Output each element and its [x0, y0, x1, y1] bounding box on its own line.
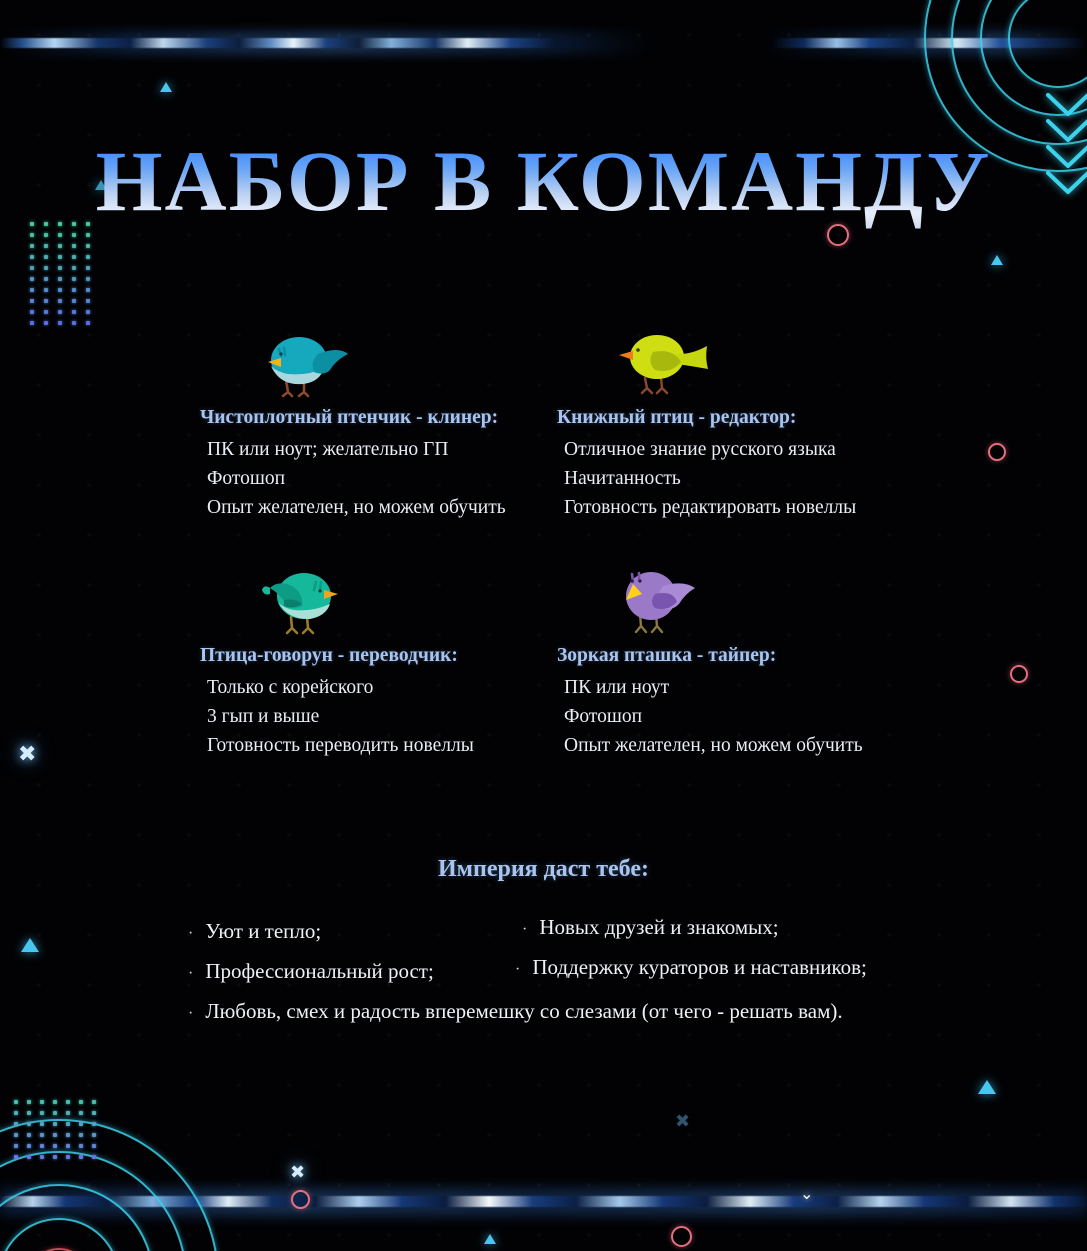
roles-section: Чистоплотный птенчик - клинер: ПК или но… [0, 318, 1087, 794]
role-requirement-item: Начитанность [564, 464, 997, 493]
triangle-marker-icon [160, 82, 172, 92]
perk-item: · Любовь, смех и радость вперемешку со с… [188, 999, 843, 1024]
bullet-icon: · [188, 966, 193, 982]
perk-item: · Новых друзей и знакомых; [522, 915, 779, 940]
perk-label: Уют и тепло; [205, 919, 321, 944]
role-card-typer[interactable]: Зоркая пташка - тайпер: ПК или ноут Фото… [557, 556, 997, 760]
role-requirement-item: Фотошоп [564, 702, 997, 731]
role-requirement-item: Отличное знание русского языка [564, 435, 997, 464]
purple-bird-icon [615, 556, 997, 636]
perk-item: · Профессиональный рост; [188, 959, 434, 984]
top-light-streak [0, 38, 1087, 48]
role-requirement-item: Готовность редактировать новеллы [564, 493, 997, 522]
bottom-light-streak [0, 1196, 1087, 1207]
role-title: Книжный птиц - редактор: [557, 407, 997, 429]
x-marker-icon: ✖ [290, 1164, 305, 1182]
bullet-icon: · [188, 1006, 193, 1022]
role-requirement-item: ПК или ноут [564, 673, 997, 702]
perk-label: Новых друзей и знакомых; [539, 915, 778, 940]
perk-label: Профессиональный рост; [205, 959, 434, 984]
perks-section: Империя даст тебе: · Уют и тепло; · Проф… [0, 856, 1087, 1029]
role-requirement-item: Опыт желателен, но можем обучить [564, 731, 997, 760]
bullet-icon: · [522, 922, 527, 938]
perks-title: Империя даст тебе: [0, 856, 1087, 883]
yellow-green-bird-icon [615, 318, 997, 398]
x-marker-icon: ✖ [675, 1113, 690, 1131]
concentric-rings-bottom-left-icon [0, 1124, 214, 1251]
perk-label: Поддержку кураторов и наставников; [532, 955, 867, 980]
role-requirements: Отличное знание русского языка Начитанно… [557, 435, 997, 522]
role-card-editor[interactable]: Книжный птиц - редактор: Отличное знание… [557, 318, 997, 522]
bullet-icon: · [188, 926, 193, 942]
perk-label: Любовь, смех и радость вперемешку со сле… [205, 999, 842, 1024]
page-title: НАБОР В КОМАНДУ [0, 131, 1087, 231]
bullet-icon: · [515, 962, 520, 978]
dot-grid-bottom-left [14, 1100, 105, 1166]
caret-down-marker-icon: ⌄ [800, 1186, 813, 1202]
role-requirements: ПК или ноут Фотошоп Опыт желателен, но м… [557, 673, 997, 760]
dot-grid-left [30, 222, 100, 332]
circle-outline-marker-icon [671, 1226, 692, 1247]
roles-row-1: Чистоплотный птенчик - клинер: ПК или но… [0, 318, 1087, 556]
poster-canvas: ✖ ✖ ✖ ⌄ НАБОР В КОМАНДУ [0, 0, 1087, 1251]
circle-outline-marker-icon [291, 1190, 310, 1209]
perk-item: · Поддержку кураторов и наставников; [515, 955, 867, 980]
triangle-marker-icon [991, 255, 1003, 265]
chevron-down-icon [1046, 92, 1087, 118]
role-title: Зоркая пташка - тайпер: [557, 645, 997, 667]
triangle-marker-icon [484, 1234, 496, 1244]
roles-row-2: Птица-говорун - переводчик: Только с кор… [0, 556, 1087, 794]
triangle-marker-icon [978, 1080, 996, 1094]
perk-item: · Уют и тепло; [188, 919, 321, 944]
perks-list: · Уют и тепло; · Профессиональный рост; … [0, 919, 1087, 1029]
